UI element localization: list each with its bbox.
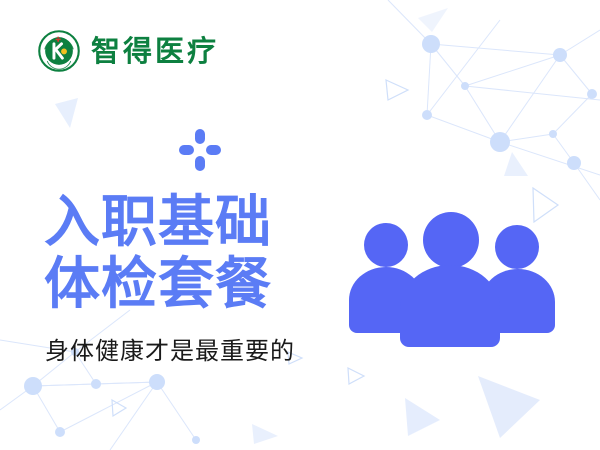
network-node xyxy=(549,130,557,138)
network-node xyxy=(587,89,597,99)
decorative-triangle xyxy=(252,424,278,444)
network-edge xyxy=(427,20,500,115)
page-title: 入职基础 体检套餐 xyxy=(44,192,344,316)
network-edge xyxy=(560,30,600,55)
network-edge xyxy=(431,44,560,55)
network-edge xyxy=(110,382,157,450)
headline-line-1: 入职基础 xyxy=(44,192,344,254)
decorative-triangle-outline xyxy=(112,400,126,416)
network-edge xyxy=(560,55,592,94)
decorative-triangle xyxy=(504,152,528,176)
brand-name: 智得医疗 xyxy=(91,37,219,66)
network-node xyxy=(461,82,469,90)
network-edge xyxy=(427,115,500,142)
network-node xyxy=(91,379,101,389)
decorative-triangle xyxy=(55,98,78,128)
decorative-triangle xyxy=(405,398,440,436)
network-edge xyxy=(33,382,157,386)
network-edge xyxy=(465,86,500,142)
network-edge xyxy=(96,382,157,384)
network-node xyxy=(422,110,432,120)
four-petal-diamond-ornament-icon xyxy=(178,128,222,172)
network-edge xyxy=(465,55,560,86)
network-node xyxy=(55,427,65,437)
network-node xyxy=(553,48,567,62)
subtitle: 身体健康才是最重要的 xyxy=(45,336,295,366)
network-edge xyxy=(574,163,600,200)
network-node xyxy=(24,377,42,395)
network-edge xyxy=(500,134,553,142)
group-of-three-people-icon xyxy=(345,212,560,347)
network-edge xyxy=(500,55,560,142)
network-edge xyxy=(553,94,592,134)
circular-medical-emblem-icon xyxy=(38,30,80,72)
network-edge xyxy=(427,44,431,115)
network-edge xyxy=(431,44,465,86)
network-node xyxy=(149,374,165,390)
network-node xyxy=(422,35,440,53)
network-edge xyxy=(33,386,60,432)
network-node xyxy=(567,156,581,170)
decorative-triangle-outline xyxy=(348,368,364,384)
network-node xyxy=(192,436,200,444)
network-edge xyxy=(388,0,431,44)
decorative-triangle xyxy=(418,8,448,32)
network-edge xyxy=(500,142,600,175)
network-edge xyxy=(157,382,196,440)
poster-canvas: 智得医疗 入职基础 体检套餐 身体健康才是最重要的 xyxy=(0,0,600,450)
network-edge xyxy=(553,134,574,163)
network-edge xyxy=(33,384,96,386)
headline-line-2: 体检套餐 xyxy=(44,254,344,316)
network-edge xyxy=(465,86,600,100)
decorative-triangle-outline xyxy=(386,80,408,100)
decorative-triangle xyxy=(478,376,540,438)
network-node xyxy=(490,132,510,152)
brand-logo[interactable]: 智得医疗 xyxy=(38,30,219,72)
network-edge xyxy=(60,382,157,432)
network-edge xyxy=(0,386,33,410)
